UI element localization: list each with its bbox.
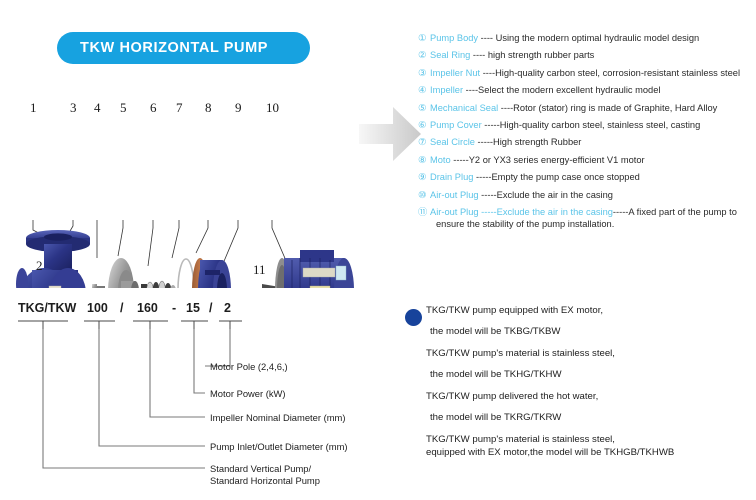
pump-cover-part xyxy=(192,258,231,288)
pump-exploded-svg xyxy=(0,98,400,288)
legend-marker-7: ⑦ xyxy=(418,137,430,149)
legend-desc-4: ----Select the modern excellent hydrauli… xyxy=(463,85,660,95)
callout-number-6: 6 xyxy=(150,100,157,116)
callout-number-7: 7 xyxy=(176,100,183,116)
page-title: TKW HORIZONTAL PUMP xyxy=(57,40,268,56)
model-desc-standard-line2: Standard Horizontal Pump xyxy=(210,475,320,486)
legend-desc-1: ---- Using the modern optimal hydraulic … xyxy=(478,33,699,43)
legend-label-10: Air-out Plug xyxy=(430,190,479,200)
code-sep-2: - xyxy=(172,301,176,315)
code-connector-lines xyxy=(43,329,230,468)
pump-body-part xyxy=(16,230,100,288)
note-line-7: TKG/TKW pump's material is stainless ste… xyxy=(426,434,754,446)
legend-item-1: ① Pump Body ---- Using the modern optima… xyxy=(418,33,756,45)
legend-label-9: Drain Plug xyxy=(430,172,473,182)
code-part-inlet: 100 xyxy=(87,301,108,315)
model-designation-svg: TKG/TKW 100 / 160 - 15 / 2 xyxy=(0,296,400,500)
legend-marker-3: ③ xyxy=(418,68,430,80)
callout-number-10: 10 xyxy=(266,100,279,116)
callout-number-4: 4 xyxy=(94,100,101,116)
parts-legend-list: ① Pump Body ---- Using the modern optima… xyxy=(418,33,756,236)
flow-arrow-icon xyxy=(357,103,423,165)
callout-number-3: 3 xyxy=(70,100,77,116)
legend-desc-11-line2: ensure the stability of the pump install… xyxy=(430,219,756,231)
legend-label-5: Mechanical Seal xyxy=(430,103,498,113)
note-line-2: the model will be TKBG/TKBW xyxy=(426,326,754,338)
pump-exploded-view: 1 2 3 4 5 6 7 8 9 10 11 xyxy=(0,98,400,288)
note-line-5: TKG/TKW pump delivered the hot water, xyxy=(426,391,754,403)
legend-item-10: ⑩ Air-out Plug -----Exclude the air in t… xyxy=(418,190,756,202)
legend-item-9: ⑨ Drain Plug -----Empty the pump case on… xyxy=(418,172,756,184)
legend-label-3: Impeller Nut xyxy=(430,68,480,78)
notes-lines: TKG/TKW pump equipped with EX motor, the… xyxy=(426,305,754,468)
page-title-banner: TKW HORIZONTAL PUMP xyxy=(57,32,310,64)
impeller-part xyxy=(108,258,139,288)
legend-desc-6: -----High-quality carbon steel, stainles… xyxy=(482,120,701,130)
legend-label-7: Seal Circle xyxy=(430,137,475,147)
model-designation-diagram: TKG/TKW 100 / 160 - 15 / 2 xyxy=(0,296,400,500)
note-line-3: TKG/TKW pump's material is stainless ste… xyxy=(426,348,754,360)
legend-item-4: ④ Impeller ----Select the modern excelle… xyxy=(418,85,756,97)
legend-marker-11: ⑪ xyxy=(418,207,430,219)
note-line-1: TKG/TKW pump equipped with EX motor, xyxy=(426,305,754,317)
callout-number-9: 9 xyxy=(235,100,242,116)
callout-number-8: 8 xyxy=(205,100,212,116)
note-line-6: the model will be TKRG/TKRW xyxy=(426,412,754,424)
legend-marker-1: ① xyxy=(418,33,430,45)
motor-part xyxy=(275,250,354,288)
legend-label-6: Pump Cover xyxy=(430,120,482,130)
callout-number-5: 5 xyxy=(120,100,127,116)
callout-number-1: 1 xyxy=(30,100,37,116)
model-desc-motor-power: Motor Power (kW) xyxy=(210,388,286,399)
legend-item-2: ② Seal Ring ---- high strength rubber pa… xyxy=(418,50,756,62)
note-line-8: equipped with EX motor,the model will be… xyxy=(426,447,754,459)
model-desc-impeller-dia: Impeller Nominal Diameter (mm) xyxy=(210,412,345,423)
code-part-pole: 2 xyxy=(224,301,231,315)
model-variants-notes: TKG/TKW pump equipped with EX motor, the… xyxy=(400,303,756,463)
legend-item-6: ⑥ Pump Cover -----High-quality carbon st… xyxy=(418,120,756,132)
legend-marker-4: ④ xyxy=(418,85,430,97)
legend-marker-5: ⑤ xyxy=(418,103,430,115)
legend-desc-10: -----Exclude the air in the casing xyxy=(479,190,613,200)
code-sep-3: / xyxy=(209,301,213,315)
flow-arrow xyxy=(357,103,423,165)
legend-desc-3: ----High-quality carbon steel, corrosion… xyxy=(480,68,740,78)
legend-marker-2: ② xyxy=(418,50,430,62)
legend-marker-6: ⑥ xyxy=(418,120,430,132)
legend-marker-8: ⑧ xyxy=(418,155,430,167)
legend-label-8: Moto xyxy=(430,155,451,165)
legend-item-5: ⑤ Mechanical Seal ----Rotor (stator) rin… xyxy=(418,103,756,115)
code-part-power: 15 xyxy=(186,301,200,315)
code-part-impeller: 160 xyxy=(137,301,158,315)
legend-item-3: ③ Impeller Nut ----High-quality carbon s… xyxy=(418,68,756,80)
mechanical-seal-part xyxy=(141,281,176,288)
legend-item-7: ⑦ Seal Circle -----High strength Rubber xyxy=(418,137,756,149)
legend-item-8: ⑧ Moto -----Y2 or YX3 series energy-effi… xyxy=(418,155,756,167)
legend-desc-2: ---- high strength rubber parts xyxy=(470,50,594,60)
legend-item-11: ⑪ Air-out Plug -----Exclude the air in t… xyxy=(418,207,756,231)
legend-desc-7: -----High strength Rubber xyxy=(475,137,581,147)
code-sep-1: / xyxy=(120,301,124,315)
legend-label-1: Pump Body xyxy=(430,33,478,43)
code-underlines xyxy=(18,321,242,329)
legend-label-2: Seal Ring xyxy=(430,50,470,60)
legend-label-11: Air-out Plug -----Exclude the air in the… xyxy=(430,207,613,217)
callout-number-2: 2 xyxy=(36,258,43,274)
note-line-4: the model will be TKHG/TKHW xyxy=(426,369,754,381)
callout-number-11: 11 xyxy=(253,262,266,278)
code-part-prefix: TKG/TKW xyxy=(18,301,77,315)
legend-marker-9: ⑨ xyxy=(418,172,430,184)
legend-desc-11: -----A fixed part of the pump to xyxy=(613,207,737,217)
bullet-dot-icon xyxy=(405,309,422,326)
model-desc-motor-pole: Motor Pole (2,4,6,) xyxy=(210,361,288,372)
legend-marker-10: ⑩ xyxy=(418,190,430,202)
motor-shaft-part xyxy=(232,284,280,288)
seal-circle-part xyxy=(178,259,194,288)
legend-label-4: Impeller xyxy=(430,85,463,95)
model-desc-standard-line1: Standard Vertical Pump/ xyxy=(210,463,311,474)
legend-desc-8: -----Y2 or YX3 series energy-efficient V… xyxy=(451,155,645,165)
legend-desc-9: -----Empty the pump case once stopped xyxy=(473,172,639,182)
model-desc-inlet-dia: Pump Inlet/Outlet Diameter (mm) xyxy=(210,441,348,452)
page-root: TKW HORIZONTAL PUMP xyxy=(0,0,756,500)
impeller-nut-part xyxy=(92,284,105,288)
legend-desc-5: ----Rotor (stator) ring is made of Graph… xyxy=(498,103,717,113)
